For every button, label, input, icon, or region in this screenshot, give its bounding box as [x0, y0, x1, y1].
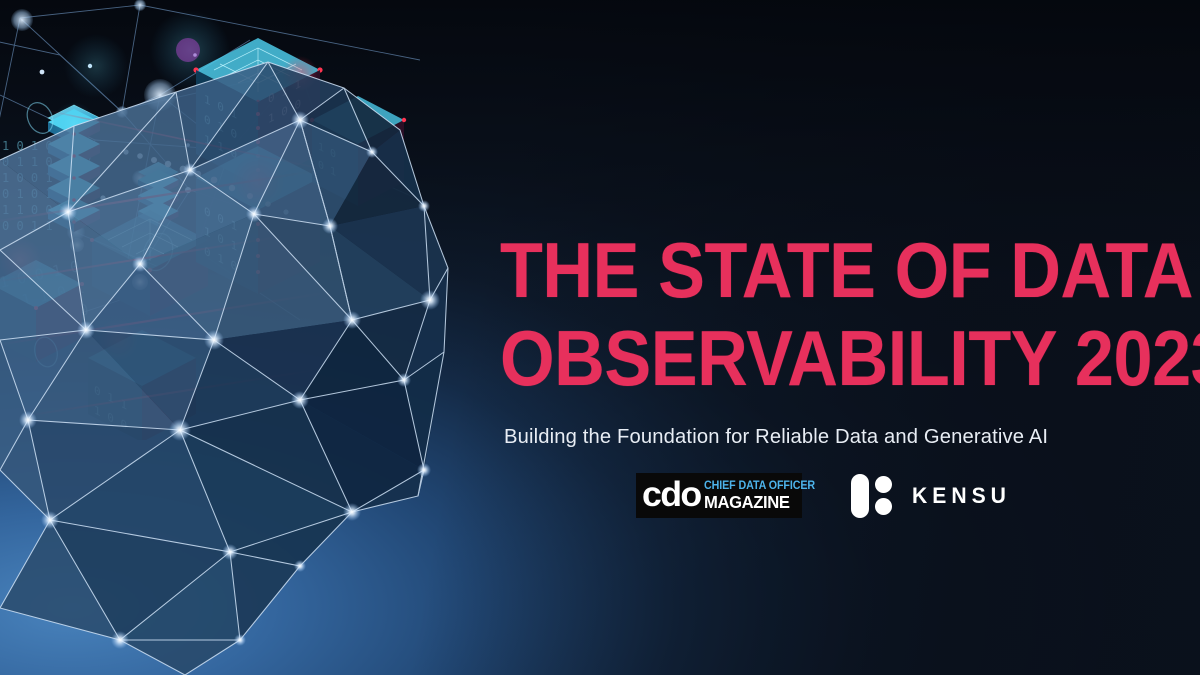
poster-canvas: 1 0 1 00 1 1 0 1 0 0 10 1 0 1 1 1 0 00 0… [0, 0, 1200, 675]
logo-row: cdo CHIEF DATA OFFICER MAGAZINE KENSU [636, 473, 1172, 518]
page-title-line-2: OBSERVABILITY 2023 [500, 321, 1105, 397]
low-poly-head-graphic [0, 0, 540, 675]
kensu-logo[interactable]: KENSU [851, 474, 1015, 518]
kensu-dot-top [875, 476, 892, 493]
page-title-line-1: THE STATE OF DATA [500, 233, 1105, 309]
cdo-logo-text: CHIEF DATA OFFICER MAGAZINE [704, 481, 823, 511]
cdo-wordmark: cdo [642, 477, 701, 512]
kensu-dot-bottom [875, 498, 892, 515]
cdo-tagline-magazine: MAGAZINE [704, 494, 817, 512]
kensu-dots-group [875, 476, 892, 515]
cdo-magazine-logo[interactable]: cdo CHIEF DATA OFFICER MAGAZINE [636, 473, 802, 518]
kensu-pill-shape [851, 474, 869, 518]
kensu-wordmark: KENSU [912, 483, 1011, 509]
page-subtitle: Building the Foundation for Reliable Dat… [504, 425, 1162, 449]
kensu-mark-icon [851, 474, 892, 518]
poster-content: THE STATE OF DATA OBSERVABILITY 2023 Bui… [500, 233, 1172, 518]
